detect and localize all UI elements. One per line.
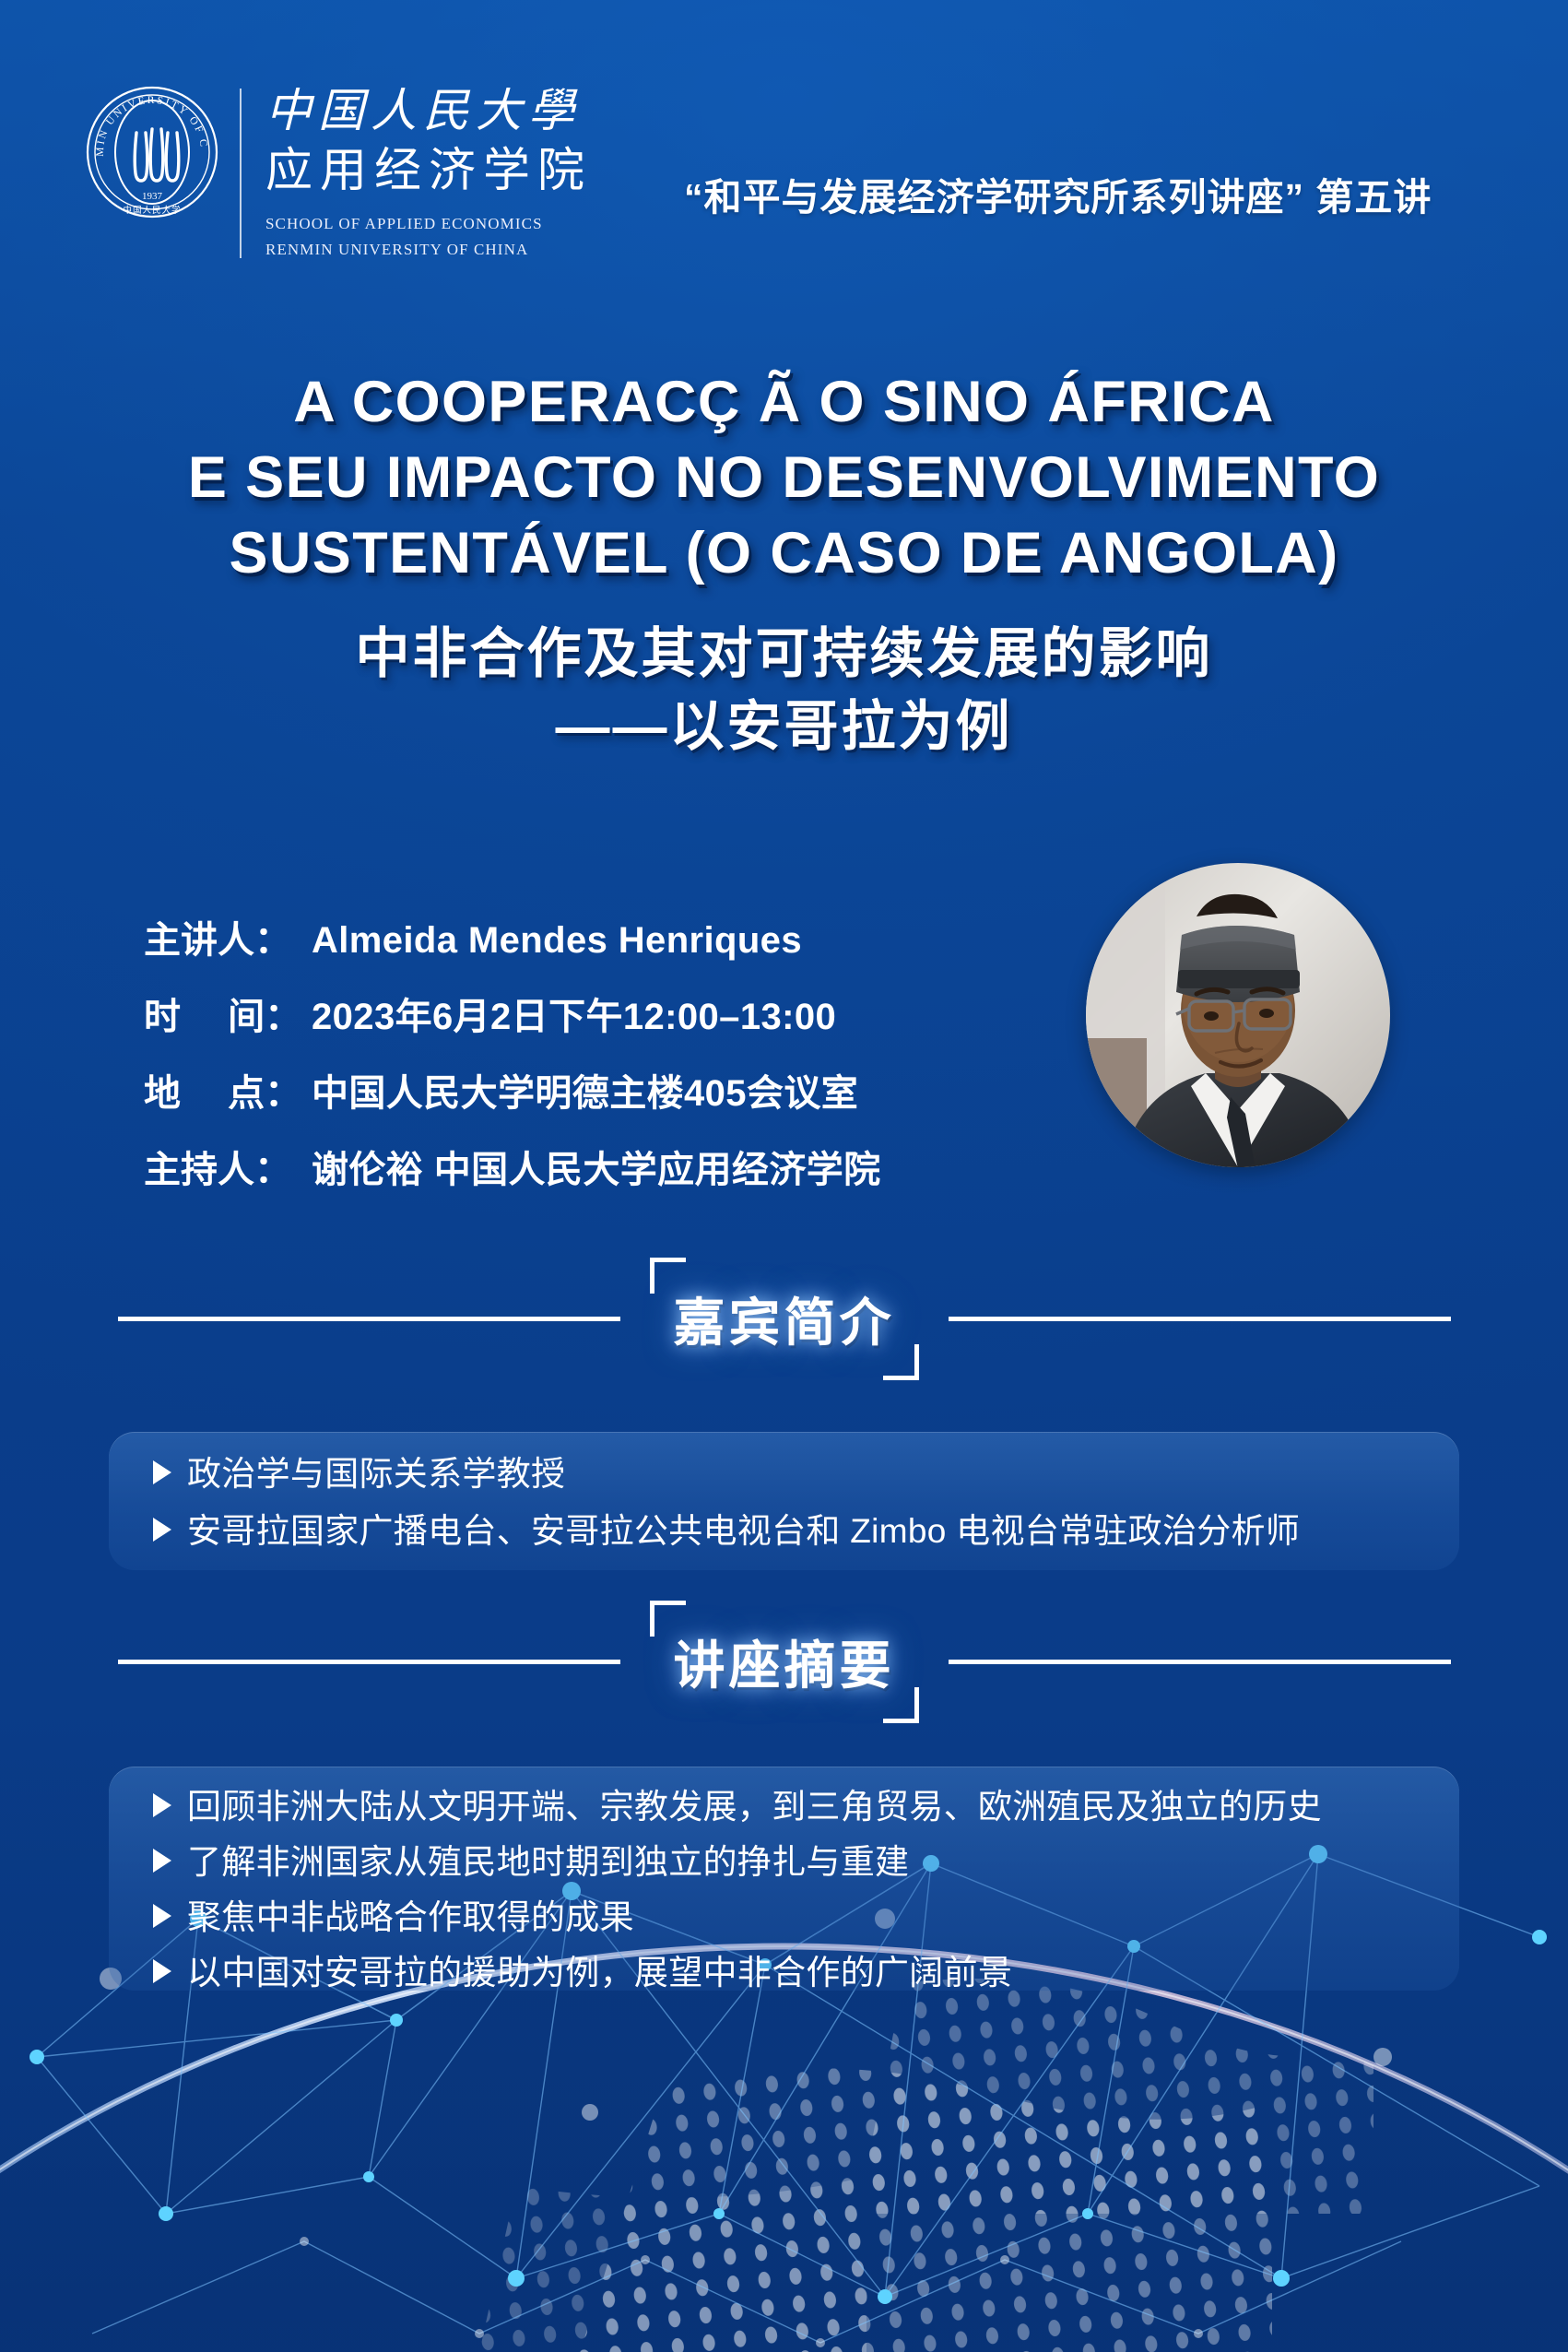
triangle-bullet-icon bbox=[153, 1904, 171, 1928]
detail-label-host: 主持人： bbox=[144, 1152, 312, 1188]
corner-bracket-bottom-right-icon bbox=[883, 1344, 919, 1380]
brand-text-block: 中国人民大學 应用经济学院 SCHOOL OF APPLIED ECONOMIC… bbox=[265, 85, 592, 262]
corner-bracket-top-left-icon bbox=[650, 1258, 686, 1294]
detail-label-time: 时 间： bbox=[144, 999, 312, 1035]
school-name-en-line2: RENMIN UNIVERSITY OF CHINA bbox=[265, 237, 592, 263]
section-heading-center: 嘉宾简介 bbox=[620, 1282, 949, 1356]
section-rule-left bbox=[118, 1317, 620, 1321]
detail-value-venue: 中国人民大学明德主楼405会议室 bbox=[312, 1075, 858, 1112]
guest-profile-card: 政治学与国际关系学教授 安哥拉国家广播电台、安哥拉公共电视台和 Zimbo 电视… bbox=[109, 1432, 1459, 1570]
title-cn-line-1: 中非合作及其对可持续发展的影响 bbox=[0, 620, 1568, 690]
list-item: 政治学与国际关系学教授 bbox=[109, 1452, 1459, 1496]
lecture-abstract-list: 回顾非洲大陆从文明开端、宗教发展，到三角贸易、欧洲殖民及独立的历史 了解非洲国家… bbox=[109, 1785, 1459, 1995]
poster-header: RENMIN UNIVERSITY OF CHINA 1937 中国人民大学 中… bbox=[0, 0, 1568, 323]
poster-root: RENMIN UNIVERSITY OF CHINA 1937 中国人民大学 中… bbox=[0, 0, 1568, 2352]
section-rule-left bbox=[118, 1660, 620, 1664]
svg-text:中国人民大学: 中国人民大学 bbox=[123, 205, 181, 216]
title-cn-line-2: ——以安哥拉为例 bbox=[0, 692, 1568, 762]
school-name-cn: 应用经济学院 bbox=[265, 145, 592, 199]
detail-value-time: 2023年6月2日下午12:00–13:00 bbox=[312, 999, 836, 1035]
university-brand: RENMIN UNIVERSITY OF CHINA 1937 中国人民大学 中… bbox=[85, 85, 592, 262]
triangle-bullet-icon bbox=[153, 1849, 171, 1873]
lecture-details: 主讲人： Almeida Mendes Henriques 时 间： 2023年… bbox=[144, 922, 881, 1188]
speaker-photo bbox=[1086, 863, 1390, 1167]
list-item-text: 聚焦中非战略合作取得的成果 bbox=[187, 1896, 634, 1940]
section-heading-lecture-abstract: 讲座摘要 bbox=[0, 1625, 1568, 1699]
section-rule-right bbox=[949, 1660, 1451, 1664]
list-item: 安哥拉国家广播电台、安哥拉公共电视台和 Zimbo 电视台常驻政治分析师 bbox=[109, 1509, 1459, 1554]
section-rule-right bbox=[949, 1317, 1451, 1321]
section-heading-text: 讲座摘要 bbox=[674, 1637, 895, 1695]
list-item: 了解非洲国家从殖民地时期到独立的挣扎与重建 bbox=[109, 1840, 1459, 1885]
brand-divider bbox=[240, 89, 242, 258]
title-pt-line-2: E SEU IMPACTO NO DESENVOLVIMENTO bbox=[0, 441, 1568, 516]
detail-label-speaker: 主讲人： bbox=[144, 922, 312, 959]
section-heading-text: 嘉宾简介 bbox=[674, 1294, 895, 1352]
title-pt-line-3: SUSTENTÁVEL (O CASO DE ANGOLA) bbox=[0, 516, 1568, 592]
corner-bracket-top-left-icon bbox=[650, 1601, 686, 1637]
detail-label-venue: 地 点： bbox=[144, 1075, 312, 1112]
list-item-text: 回顾非洲大陆从文明开端、宗教发展，到三角贸易、欧洲殖民及独立的历史 bbox=[187, 1785, 1322, 1829]
university-name-cn: 中国人民大學 bbox=[265, 87, 592, 136]
triangle-bullet-icon bbox=[153, 1793, 171, 1817]
detail-value-host: 谢伦裕 中国人民大学应用经济学院 bbox=[312, 1152, 881, 1188]
corner-bracket-bottom-right-icon bbox=[883, 1687, 919, 1723]
detail-row-speaker: 主讲人： Almeida Mendes Henriques bbox=[144, 922, 881, 959]
lecture-abstract-card: 回顾非洲大陆从文明开端、宗教发展，到三角贸易、欧洲殖民及独立的历史 了解非洲国家… bbox=[109, 1767, 1459, 1991]
svg-text:1937: 1937 bbox=[142, 191, 163, 202]
university-seal-icon: RENMIN UNIVERSITY OF CHINA 1937 中国人民大学 bbox=[85, 85, 219, 219]
detail-value-speaker: Almeida Mendes Henriques bbox=[312, 922, 802, 959]
list-item: 以中国对安哥拉的援助为例，展望中非合作的广阔前景 bbox=[109, 1951, 1459, 1995]
title-pt-line-1: A COOPERACÇ Ã O SINO ÁFRICA bbox=[0, 365, 1568, 441]
section-heading-guest-profile: 嘉宾简介 bbox=[0, 1282, 1568, 1356]
lecture-series-title: “和平与发展经济学研究所系列讲座” 第五讲 bbox=[684, 166, 1432, 221]
speaker-portrait-illustration bbox=[1086, 863, 1390, 1167]
list-item-text: 安哥拉国家广播电台、安哥拉公共电视台和 Zimbo 电视台常驻政治分析师 bbox=[187, 1509, 1300, 1554]
school-name-en-line1: SCHOOL OF APPLIED ECONOMICS bbox=[265, 211, 592, 237]
triangle-bullet-icon bbox=[153, 1959, 171, 1983]
list-item: 聚焦中非战略合作取得的成果 bbox=[109, 1896, 1459, 1940]
section-heading-center: 讲座摘要 bbox=[620, 1625, 949, 1699]
detail-row-venue: 地 点： 中国人民大学明德主楼405会议室 bbox=[144, 1075, 881, 1112]
list-item-text: 以中国对安哥拉的援助为例，展望中非合作的广阔前景 bbox=[187, 1951, 1012, 1995]
poster-title-block: A COOPERACÇ Ã O SINO ÁFRICA E SEU IMPACT… bbox=[0, 365, 1568, 762]
list-item-text: 了解非洲国家从殖民地时期到独立的挣扎与重建 bbox=[187, 1840, 909, 1885]
detail-row-host: 主持人： 谢伦裕 中国人民大学应用经济学院 bbox=[144, 1152, 881, 1188]
detail-row-time: 时 间： 2023年6月2日下午12:00–13:00 bbox=[144, 999, 881, 1035]
guest-profile-list: 政治学与国际关系学教授 安哥拉国家广播电台、安哥拉公共电视台和 Zimbo 电视… bbox=[109, 1452, 1459, 1554]
triangle-bullet-icon bbox=[153, 1460, 171, 1484]
triangle-bullet-icon bbox=[153, 1518, 171, 1542]
list-item-text: 政治学与国际关系学教授 bbox=[187, 1452, 565, 1496]
list-item: 回顾非洲大陆从文明开端、宗教发展，到三角贸易、欧洲殖民及独立的历史 bbox=[109, 1785, 1459, 1829]
